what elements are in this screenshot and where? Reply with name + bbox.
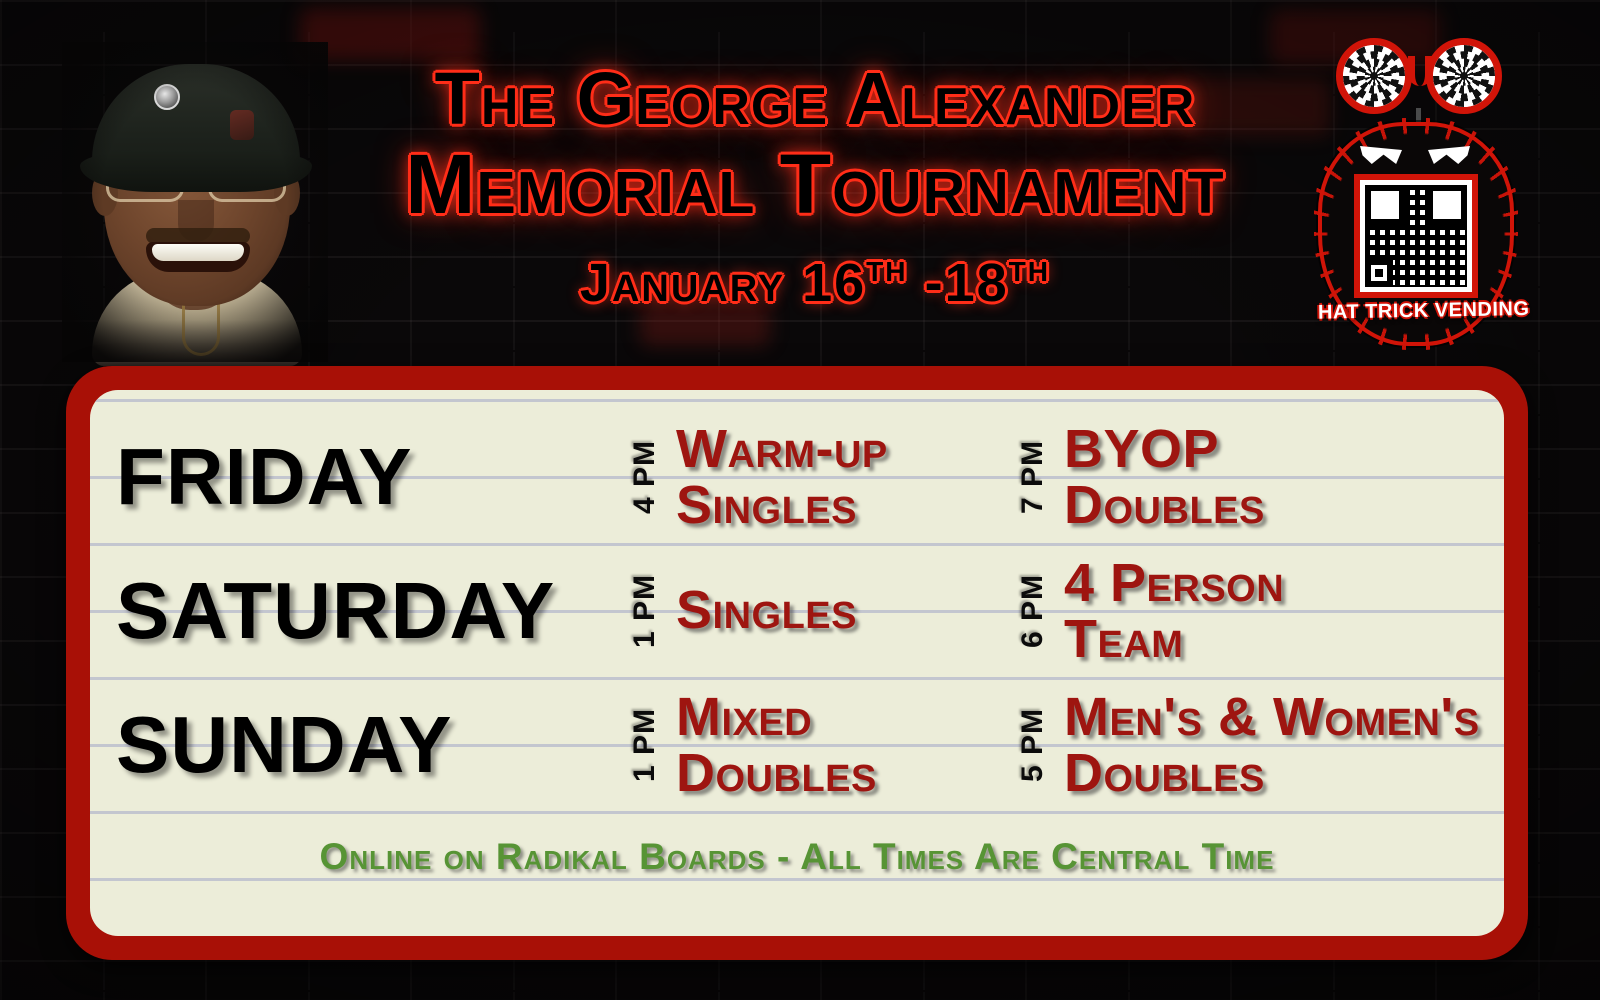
portrait-cap-brim (80, 150, 312, 192)
headline-block: The George Alexander Memorial Tournament… (340, 62, 1290, 314)
qr-code-pattern (1365, 185, 1467, 287)
portrait-teeth (152, 244, 244, 261)
schedule-event-line: 4 Person (1064, 555, 1284, 611)
glasses-bridge-icon (1408, 56, 1432, 86)
schedule-slot-time: 7 PM (1016, 440, 1050, 514)
date-first: January 16 (580, 253, 866, 313)
schedule-row: FRIDAY4 PMWarm-upSingles7 PMBYOPDoubles (116, 410, 1478, 544)
schedule-event-line: Singles (676, 582, 857, 639)
schedule-day-name: SUNDAY (116, 705, 628, 785)
schedule-event-line: Singles (676, 477, 888, 533)
schedule-slot: 7 PMBYOPDoubles (1016, 421, 1478, 533)
schedule-slot-time: 1 PM (628, 708, 662, 782)
date-ordinal-second: TH (1009, 256, 1050, 287)
schedule-day-name: FRIDAY (116, 437, 628, 517)
hat-trick-vending-logo[interactable]: HAT TRICK VENDING (1318, 122, 1514, 346)
tournament-title-line-2: Memorial Tournament (340, 142, 1290, 226)
schedule-row: SATURDAY1 PMSingles6 PM4 PersonTeam (116, 544, 1478, 678)
schedule-slot-time: 5 PM (1016, 708, 1050, 782)
schedule-slot: 1 PMSingles (628, 574, 1016, 648)
dartboard-glasses-icon (1336, 38, 1502, 114)
vending-logo-label: HAT TRICK VENDING (1318, 298, 1514, 324)
schedule-slot-event: Warm-upSingles (676, 421, 888, 533)
schedule-slot: 1 PMMixedDoubles (628, 689, 1016, 801)
memorial-portrait-photo (62, 42, 328, 362)
schedule-event-line: Team (1064, 611, 1284, 667)
portrait-cap-button (154, 84, 180, 110)
tournament-title-line-1: The George Alexander (340, 62, 1290, 136)
schedule-slot: 4 PMWarm-upSingles (628, 421, 1016, 533)
schedule-event-line: Warm-up (676, 421, 888, 477)
schedule-event-line: Mixed (676, 689, 877, 745)
schedule-event-line: Doubles (1064, 745, 1480, 801)
schedule-slot-event: BYOPDoubles (1064, 421, 1265, 533)
footer-note: Online on Radikal Boards - All Times Are… (90, 836, 1504, 878)
schedule-slot-event: 4 PersonTeam (1064, 555, 1284, 667)
schedule-event-line: Men's & Women's (1064, 689, 1480, 745)
dartboard-left-icon (1336, 38, 1412, 114)
schedule-slot-event: MixedDoubles (676, 689, 877, 801)
schedule-row: SUNDAY1 PMMixedDoubles5 PMMen's & Women'… (116, 678, 1478, 812)
qr-code-icon[interactable] (1354, 174, 1478, 298)
qr-finder-bottom-left (1365, 259, 1393, 287)
schedule-slot: 6 PM4 PersonTeam (1016, 555, 1478, 667)
schedule-panel-inner: FRIDAY4 PMWarm-upSingles7 PMBYOPDoublesS… (90, 390, 1504, 936)
dartboard-right-icon (1426, 38, 1502, 114)
schedule-slot: 5 PMMen's & Women'sDoubles (1016, 689, 1480, 801)
date-ordinal-first: TH (866, 256, 907, 287)
schedule-slot-event: Men's & Women'sDoubles (1064, 689, 1480, 801)
schedule-day-name: SATURDAY (116, 571, 628, 651)
portrait-cap-patch (230, 110, 254, 140)
schedule-slot-event: Singles (676, 582, 857, 639)
schedule-slot-time: 6 PM (1016, 574, 1050, 648)
schedule-panel: FRIDAY4 PMWarm-upSingles7 PMBYOPDoublesS… (66, 366, 1528, 960)
portrait-smile (146, 242, 250, 272)
schedule-event-line: Doubles (1064, 477, 1265, 533)
schedule-event-line: Doubles (676, 745, 877, 801)
schedule-slot-time: 1 PM (628, 574, 662, 648)
schedule-event-line: BYOP (1064, 421, 1265, 477)
tournament-dates: January 16TH -18TH (340, 252, 1290, 314)
dartboard-bullseye (1370, 72, 1378, 80)
schedule-slot-time: 4 PM (628, 440, 662, 514)
date-second: -18 (908, 253, 1009, 313)
poster-root: HAT TRICK VENDING The George Alexander M… (0, 0, 1600, 1000)
dartboard-bullseye (1460, 72, 1468, 80)
